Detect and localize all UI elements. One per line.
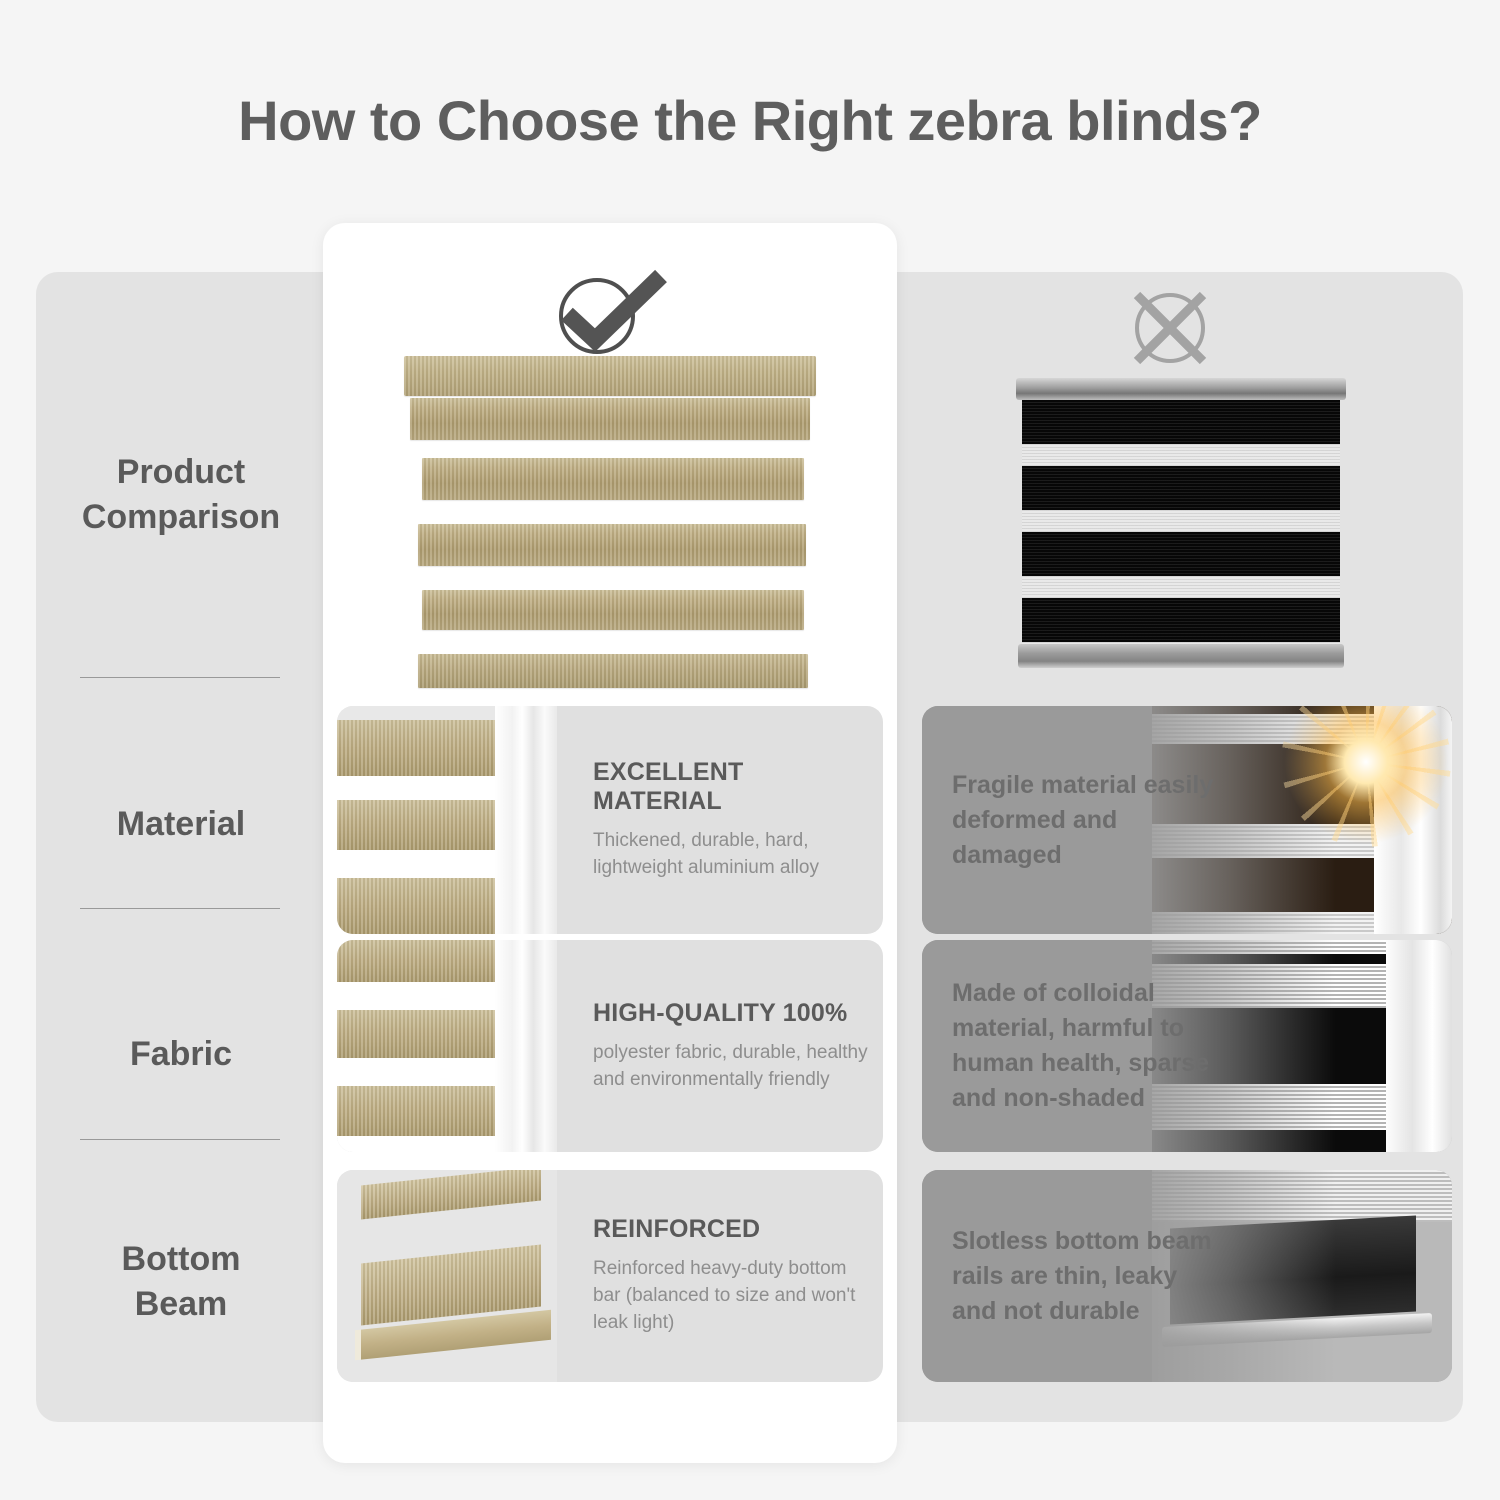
- blind-fabric: [1022, 400, 1340, 644]
- good-feature-fabric-text: HIGH-QUALITY 100% polyester fabric, dura…: [593, 940, 869, 1152]
- blind-gap: [337, 776, 505, 800]
- category-sidebar: Product Comparison Material Fabric Botto…: [36, 272, 326, 1422]
- blind-gap: [337, 850, 505, 878]
- window-frame: [495, 940, 557, 1152]
- page-title: How to Choose the Right zebra blinds?: [0, 88, 1500, 153]
- blind-band: [337, 1086, 505, 1136]
- blind-gap: [337, 1136, 505, 1152]
- good-feature-bottom-beam: REINFORCED Reinforced heavy-duty bottom …: [337, 1170, 883, 1382]
- bad-feature-bottom-beam-text: Slotless bottom beam rails are thin, lea…: [952, 1170, 1222, 1382]
- cross-circle-icon: [1124, 282, 1216, 374]
- good-feature-fabric-body: polyester fabric, durable, healthy and e…: [593, 1040, 869, 1094]
- bad-hero-product-image: [1016, 378, 1346, 668]
- sidebar-divider-2: [80, 908, 280, 909]
- good-feature-bottom-beam-heading: REINFORCED: [593, 1215, 869, 1244]
- blind-gap: [337, 1058, 505, 1086]
- good-feature-material-body: Thickened, durable, hard, lightweight al…: [593, 828, 869, 882]
- check-circle-icon: [545, 268, 675, 358]
- blind-band: [337, 720, 505, 776]
- good-feature-bottom-beam-body: Reinforced heavy-duty bottom bar (balanc…: [593, 1256, 869, 1337]
- sidebar-label-material: Material: [117, 805, 246, 843]
- sidebar-label-fabric: Fabric: [130, 1035, 232, 1073]
- sidebar-item-product-comparison: Product Comparison: [36, 450, 326, 540]
- good-feature-fabric: HIGH-QUALITY 100% polyester fabric, dura…: [337, 940, 883, 1152]
- sidebar-item-material: Material: [36, 802, 326, 847]
- good-feature-fabric-heading: HIGH-QUALITY 100%: [593, 999, 869, 1028]
- good-feature-material-heading: EXCELLENT MATERIAL: [593, 758, 869, 816]
- blind-bottom-beam: [1018, 644, 1344, 668]
- blind-slat: [410, 398, 810, 440]
- bad-feature-fabric-text: Made of colloidal material, harmful to h…: [952, 940, 1222, 1152]
- sidebar-label-product-comparison: Product Comparison: [82, 453, 280, 536]
- blind-gap: [337, 982, 505, 1010]
- blind-headrail: [404, 356, 816, 396]
- blind-headrail: [1016, 378, 1346, 400]
- blind-slat: [418, 524, 806, 566]
- bad-feature-fabric: Made of colloidal material, harmful to h…: [922, 940, 1452, 1152]
- blind-slat: [422, 458, 804, 500]
- blind-band: [337, 800, 505, 850]
- sidebar-divider-3: [80, 1139, 280, 1140]
- bad-feature-bottom-beam: Slotless bottom beam rails are thin, lea…: [922, 1170, 1452, 1382]
- sidebar-item-bottom-beam: Bottom Beam: [36, 1237, 326, 1327]
- blind-slat: [422, 590, 804, 630]
- good-feature-material: EXCELLENT MATERIAL Thickened, durable, h…: [337, 706, 883, 934]
- good-feature-material-image: [337, 706, 557, 934]
- good-feature-material-text: EXCELLENT MATERIAL Thickened, durable, h…: [593, 706, 869, 934]
- good-hero-product-image: [404, 356, 816, 696]
- blind-bottom-beam: [418, 654, 808, 688]
- good-feature-fabric-image: [337, 940, 557, 1152]
- good-feature-bottom-beam-image: [337, 1170, 557, 1382]
- window-frame: [495, 706, 557, 934]
- sidebar-item-fabric: Fabric: [36, 1032, 326, 1077]
- sidebar-divider-1: [80, 677, 280, 678]
- bad-feature-material-text: Fragile material easily deformed and dam…: [952, 706, 1222, 934]
- blind-band: [337, 878, 505, 934]
- bad-feature-material: Fragile material easily deformed and dam…: [922, 706, 1452, 934]
- sidebar-label-bottom-beam: Bottom Beam: [122, 1240, 241, 1323]
- blind-band: [337, 940, 505, 982]
- blind-band: [337, 1010, 505, 1058]
- good-feature-bottom-beam-text: REINFORCED Reinforced heavy-duty bottom …: [593, 1170, 869, 1382]
- blind-slat: [361, 1170, 541, 1219]
